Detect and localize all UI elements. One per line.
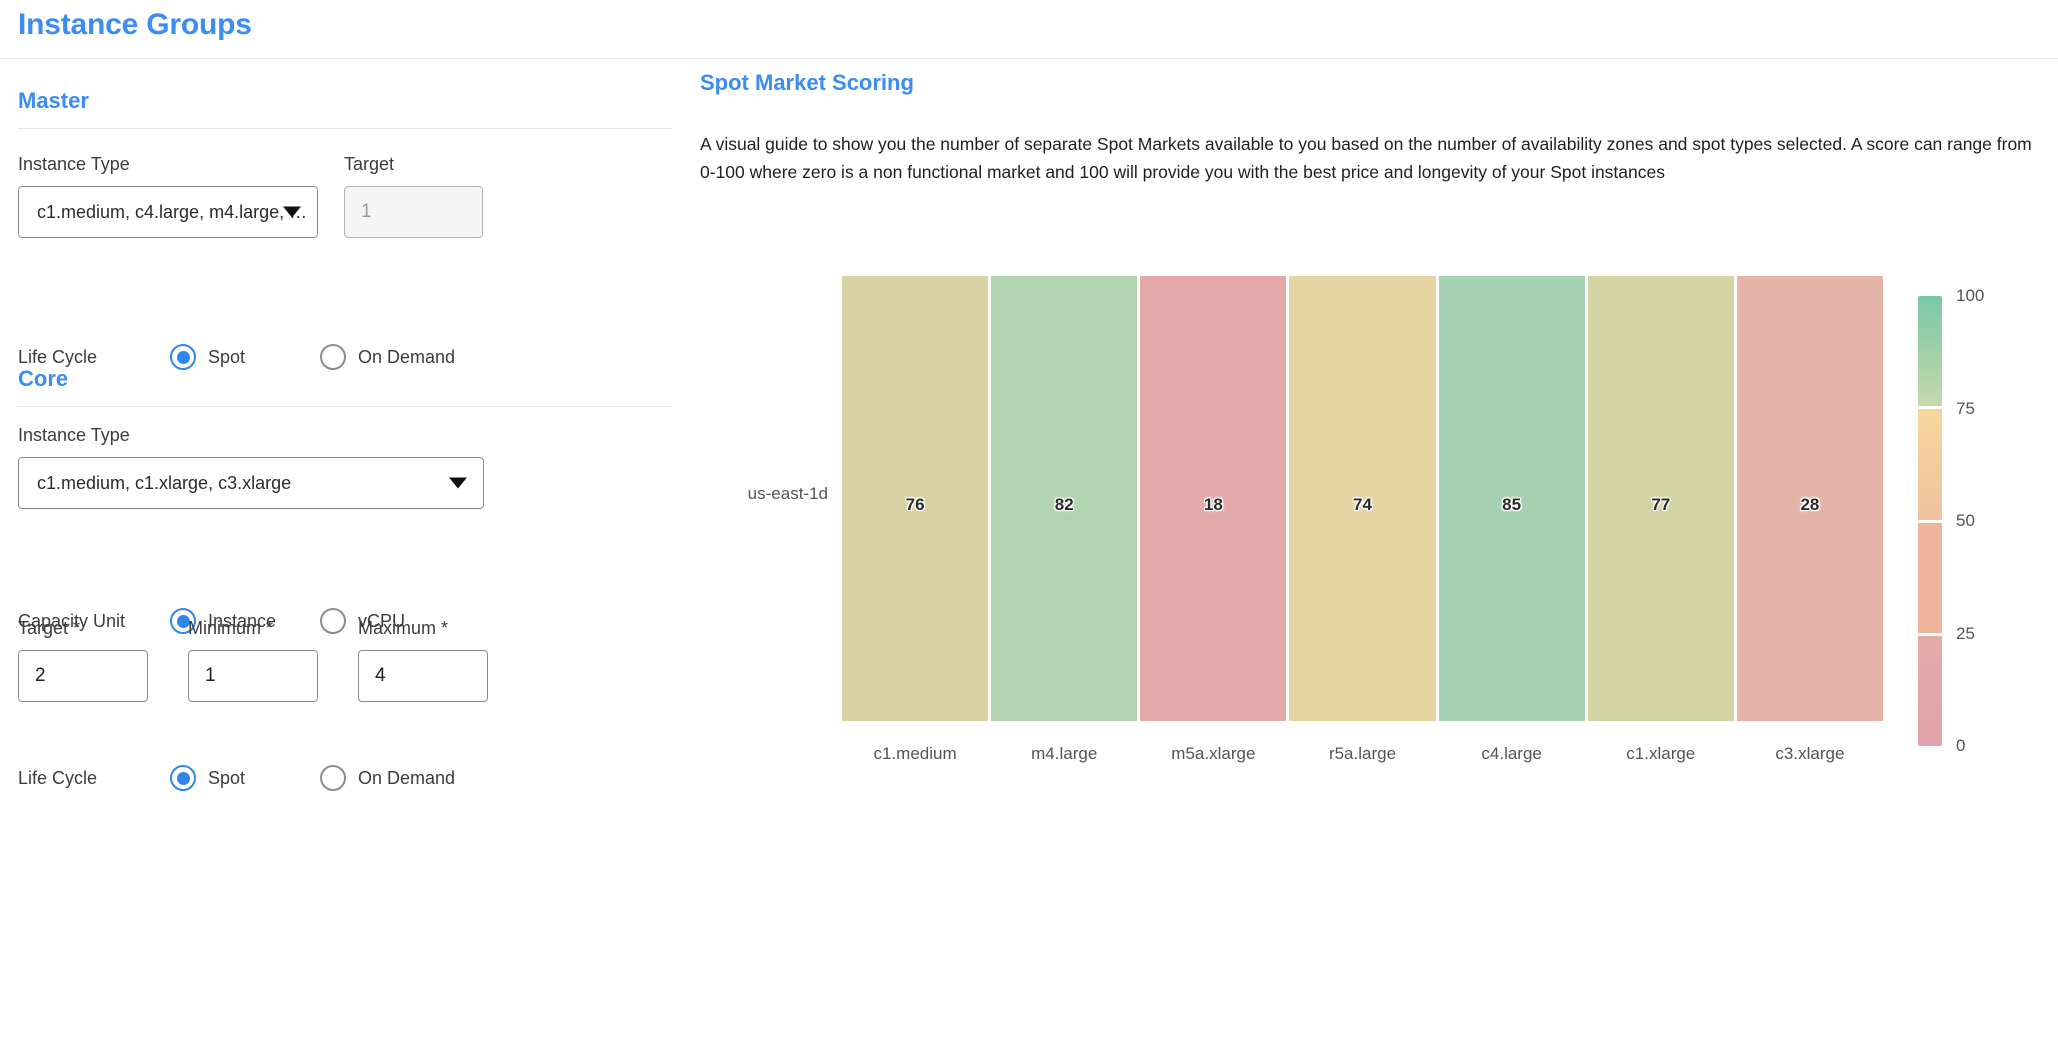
core-life-cycle-spot-label: Spot — [208, 768, 245, 789]
heatmap-cell[interactable]: 28 — [1737, 276, 1883, 721]
core-target-input[interactable]: 2 — [18, 650, 148, 702]
heatmap-cell[interactable]: 18 — [1140, 276, 1286, 721]
core-maximum-label: Maximum * — [358, 618, 448, 639]
core-minimum-input[interactable]: 1 — [188, 650, 318, 702]
radio-unselected-icon — [320, 608, 346, 634]
heatmap-cell-value: 77 — [1588, 495, 1734, 515]
master-target-label-wrap: Target — [344, 154, 394, 175]
master-life-cycle-spot-label: Spot — [208, 347, 245, 368]
heatmap-cell[interactable]: 85 — [1439, 276, 1585, 721]
page-title: Instance Groups — [18, 8, 252, 42]
legend-tick: 75 — [1956, 399, 1975, 419]
heatmap-x-tick: m4.large — [991, 744, 1137, 764]
master-target-placeholder: 1 — [361, 201, 372, 223]
master-instance-type-label-wrap: Instance Type — [18, 154, 130, 175]
spot-market-scoring-title: Spot Market Scoring — [700, 70, 2058, 96]
chevron-down-icon — [449, 478, 467, 489]
heatmap-x-axis-labels: c1.mediumm4.largem5a.xlarger5a.largec4.l… — [842, 744, 1883, 764]
heatmap-cell[interactable]: 74 — [1289, 276, 1435, 721]
heatmap-y-axis-label: us-east-1d — [700, 266, 842, 721]
heatmap-x-tick: c4.large — [1439, 744, 1585, 764]
core-life-cycle-option-on-demand[interactable]: On Demand — [320, 765, 455, 791]
core-life-cycle-label: Life Cycle — [18, 768, 170, 789]
radio-unselected-icon — [320, 765, 346, 791]
heatmap-x-tick: m5a.xlarge — [1140, 744, 1286, 764]
legend-tick: 0 — [1956, 736, 1965, 756]
instance-groups-form: Master Instance Type c1.medium, c4.large… — [0, 70, 690, 1058]
master-life-cycle-label: Life Cycle — [18, 347, 170, 368]
core-instance-type-value: c1.medium, c1.xlarge, c3.xlarge — [37, 473, 291, 494]
master-section-title: Master — [18, 88, 690, 114]
core-target-label-wrap: Target * — [18, 618, 80, 639]
core-maximum-input[interactable]: 4 — [358, 650, 488, 702]
master-target-label: Target — [344, 154, 394, 175]
heatmap-x-tick: r5a.large — [1289, 744, 1435, 764]
heatmap-cell[interactable]: 77 — [1588, 276, 1734, 721]
instance-groups-page: Instance Groups Master Instance Type c1.… — [0, 0, 2058, 1058]
core-life-cycle-on-demand-label: On Demand — [358, 768, 455, 789]
heatmap-cell-value: 74 — [1289, 495, 1435, 515]
chevron-down-icon — [283, 207, 301, 218]
spot-market-scoring-description: A visual guide to show you the number of… — [700, 130, 2045, 187]
core-minimum-label-wrap: Minimum * — [188, 618, 273, 639]
legend-segment — [1918, 520, 1942, 633]
heatmap-cell-value: 76 — [842, 495, 988, 515]
legend-segment — [1918, 296, 1942, 406]
heatmap-x-tick: c3.xlarge — [1737, 744, 1883, 764]
core-target-value: 2 — [35, 665, 46, 687]
core-maximum-value: 4 — [375, 665, 386, 687]
heatmap-color-legend: 1007550250 — [1918, 296, 2048, 796]
heatmap-cells: 76821874857728 — [842, 276, 1883, 721]
core-minimum-label: Minimum * — [188, 618, 273, 639]
master-instance-type-value: c1.medium, c4.large, m4.large, … — [37, 202, 307, 223]
core-life-cycle-row: Life Cycle Spot On Demand — [18, 765, 618, 791]
core-section-title: Core — [18, 366, 690, 392]
core-life-cycle-option-spot[interactable]: Spot — [170, 765, 320, 791]
master-section: Master — [0, 88, 690, 129]
heatmap-cell-value: 85 — [1439, 495, 1585, 515]
master-target-input[interactable]: 1 — [344, 186, 483, 238]
heatmap-x-tick: c1.medium — [842, 744, 988, 764]
spot-market-scoring-panel: Spot Market Scoring A visual guide to sh… — [700, 70, 2058, 187]
core-instance-type-label: Instance Type — [18, 425, 130, 446]
core-minimum-value: 1 — [205, 665, 216, 687]
core-instance-type-select[interactable]: c1.medium, c1.xlarge, c3.xlarge — [18, 457, 484, 509]
legend-tick: 50 — [1956, 511, 1975, 531]
heatmap-cell-value: 82 — [991, 495, 1137, 515]
master-instance-type-label: Instance Type — [18, 154, 130, 175]
heatmap-x-tick: c1.xlarge — [1588, 744, 1734, 764]
core-target-label: Target * — [18, 618, 80, 639]
legend-gradient-bar — [1918, 296, 1942, 746]
legend-segment — [1918, 406, 1942, 519]
radio-selected-icon — [170, 765, 196, 791]
core-capacity-unit-row: Capacity Unit Instance vCPU — [18, 608, 618, 634]
heatmap-cell[interactable]: 76 — [842, 276, 988, 721]
core-instance-type-label-wrap: Instance Type — [18, 425, 130, 446]
legend-tick-labels: 1007550250 — [1956, 296, 2046, 746]
core-section-divider — [18, 406, 672, 407]
core-section: Core — [0, 366, 690, 407]
master-section-divider — [18, 128, 672, 129]
legend-segment — [1918, 633, 1942, 746]
legend-tick: 25 — [1956, 624, 1975, 644]
core-maximum-label-wrap: Maximum * — [358, 618, 448, 639]
heatmap-cell-value: 28 — [1737, 495, 1883, 515]
heatmap-cell[interactable]: 82 — [991, 276, 1137, 721]
legend-tick: 100 — [1956, 286, 1984, 306]
heatmap-cell-value: 18 — [1140, 495, 1286, 515]
master-life-cycle-on-demand-label: On Demand — [358, 347, 455, 368]
title-divider — [0, 58, 2058, 59]
master-instance-type-select[interactable]: c1.medium, c4.large, m4.large, … — [18, 186, 318, 238]
spot-market-heatmap: us-east-1d 76821874857728 c1.mediumm4.la… — [700, 266, 2058, 786]
